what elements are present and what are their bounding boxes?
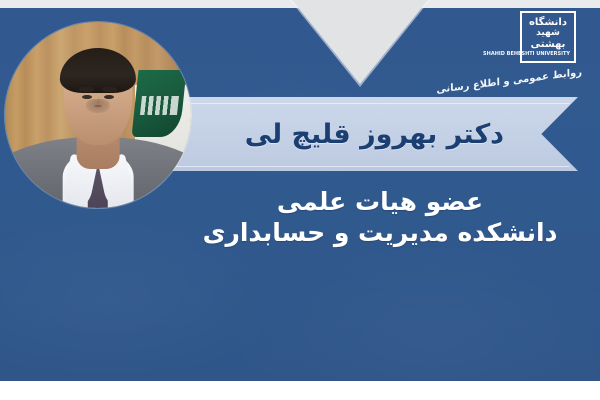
logo-line-4-latin: SHAHID BEHESHTI UNIVERSITY bbox=[526, 52, 570, 57]
logo-text-lines: دانشگاه شهید بهشتی SHAHID BEHESHTI UNIVE… bbox=[526, 18, 570, 57]
bottom-edge-strip bbox=[0, 381, 600, 400]
logo-line-1: دانشگاه bbox=[526, 18, 570, 29]
eye-left bbox=[82, 95, 92, 99]
eyebrow-right bbox=[102, 87, 117, 92]
eyebrow-left bbox=[79, 87, 94, 92]
mouth bbox=[95, 105, 101, 107]
role-block: عضو هیات علمی دانشکده مدیریت و حسابداری bbox=[190, 186, 570, 249]
role-line-1: عضو هیات علمی bbox=[190, 186, 570, 217]
logo-line-2: شهید bbox=[526, 29, 570, 38]
profile-card: دانشگاه شهید بهشتی SHAHID BEHESHTI UNIVE… bbox=[0, 0, 600, 400]
logo-line-3: بهشتی bbox=[526, 40, 570, 51]
logo-frame-icon: دانشگاه شهید بهشتی SHAHID BEHESHTI UNIVE… bbox=[520, 11, 576, 63]
portrait-photo bbox=[5, 22, 191, 208]
hair bbox=[60, 48, 136, 93]
eye-right bbox=[104, 95, 114, 99]
university-logo: دانشگاه شهید بهشتی SHAHID BEHESHTI UNIVE… bbox=[476, 8, 584, 92]
role-line-2: دانشکده مدیریت و حسابداری bbox=[190, 217, 570, 248]
iran-flag-script bbox=[140, 96, 179, 115]
avatar bbox=[5, 22, 191, 208]
